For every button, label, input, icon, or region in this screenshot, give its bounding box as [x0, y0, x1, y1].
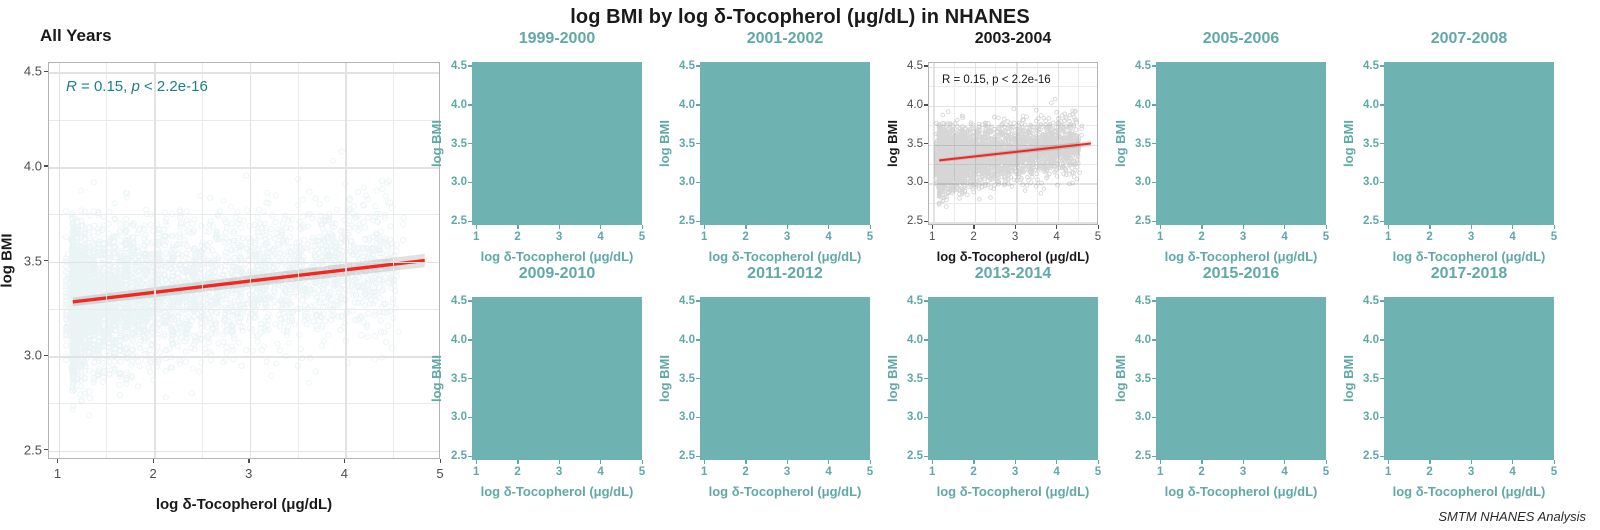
- y-tick-label: 3.5: [896, 373, 923, 385]
- y-tick-label: 3.0: [1124, 176, 1151, 188]
- x-tick-label: 1: [1385, 466, 1391, 478]
- y-tick-mark: [44, 260, 48, 261]
- y-tick-label: 4.5: [14, 64, 42, 79]
- y-tick-label: 4.0: [896, 334, 923, 346]
- y-tick-label: 4.5: [896, 60, 923, 72]
- y-tick-mark: [696, 104, 700, 105]
- x-tick-label: 4: [825, 466, 831, 478]
- y-tick-mark: [44, 165, 48, 166]
- x-tick-label: 2: [514, 466, 520, 478]
- x-tick-label: 4: [1053, 231, 1059, 243]
- y-tick-label: 2.5: [896, 450, 923, 462]
- plot-area-all-years: [48, 62, 440, 459]
- y-tick-label: 2.5: [1124, 450, 1151, 462]
- plot-area-2013-2014: [928, 297, 1098, 460]
- y-tick-mark: [696, 339, 700, 340]
- y-tick-label: 3.5: [668, 373, 695, 385]
- gridline-major-horizontal: [49, 262, 440, 264]
- y-tick-mark: [468, 104, 472, 105]
- y-tick-mark: [924, 378, 928, 379]
- y-tick-label: 2.5: [14, 442, 42, 457]
- x-tick-mark: [1471, 460, 1472, 464]
- y-tick-mark: [1380, 65, 1384, 66]
- x-tick-mark: [153, 459, 154, 463]
- x-tick-mark: [1201, 225, 1202, 229]
- x-axis-title-2001-2002: log δ-Tocopherol (μg/dL): [700, 249, 870, 264]
- x-tick-label: 5: [867, 231, 873, 243]
- y-tick-mark: [1380, 378, 1384, 379]
- x-tick-label: 3: [1012, 231, 1018, 243]
- y-tick-mark: [44, 355, 48, 356]
- x-tick-label: 5: [867, 466, 873, 478]
- y-tick-mark: [468, 300, 472, 301]
- x-tick-mark: [828, 225, 829, 229]
- y-tick-label: 2.5: [1124, 215, 1151, 227]
- panel-title-all-years: All Years: [40, 26, 112, 46]
- x-tick-label: 1: [929, 466, 935, 478]
- y-tick-label: 4.5: [1124, 295, 1151, 307]
- y-tick-label: 3.5: [1352, 138, 1379, 150]
- x-tick-label: 1: [54, 466, 61, 481]
- x-tick-mark: [932, 225, 933, 229]
- x-tick-label: 1: [929, 231, 935, 243]
- y-tick-label: 3.0: [440, 411, 467, 423]
- x-tick-mark: [1284, 225, 1285, 229]
- y-tick-mark: [924, 339, 928, 340]
- x-tick-label: 4: [1509, 466, 1515, 478]
- y-tick-mark: [1152, 378, 1156, 379]
- x-tick-mark: [1512, 225, 1513, 229]
- panel-title-2005-2006: 2005-2006: [1156, 30, 1326, 48]
- x-tick-mark: [1388, 460, 1389, 464]
- x-tick-mark: [1512, 460, 1513, 464]
- x-axis-title-2007-2008: log δ-Tocopherol (μg/dL): [1384, 249, 1554, 264]
- y-axis-title-2009-2010: log BMI: [429, 355, 444, 402]
- y-tick-mark: [1152, 143, 1156, 144]
- x-tick-label: 5: [639, 231, 645, 243]
- y-axis-title-1999-2000: log BMI: [429, 120, 444, 167]
- y-tick-mark: [1380, 417, 1384, 418]
- y-tick-label: 3.0: [896, 411, 923, 423]
- x-tick-label: 3: [556, 231, 562, 243]
- panel-2011-2012: 2011-20122.53.03.54.04.512345log δ-Tocop…: [654, 265, 880, 498]
- y-tick-mark: [1152, 182, 1156, 183]
- panel-title-2003-2004: 2003-2004: [928, 30, 1098, 48]
- corr-mid: = 0.15,: [77, 78, 132, 95]
- x-tick-label: 4: [1053, 466, 1059, 478]
- x-tick-mark: [1201, 460, 1202, 464]
- corr-R-symbol: R: [66, 78, 77, 95]
- y-tick-mark: [696, 300, 700, 301]
- x-tick-mark: [642, 460, 643, 464]
- plot-frame-2005-2006: [1156, 62, 1326, 225]
- x-tick-label: 2: [970, 231, 976, 243]
- x-tick-mark: [57, 459, 58, 463]
- x-tick-mark: [1243, 225, 1244, 229]
- x-tick-label: 4: [1281, 231, 1287, 243]
- y-tick-mark: [1380, 221, 1384, 222]
- y-tick-label: 3.0: [1124, 411, 1151, 423]
- x-tick-mark: [870, 460, 871, 464]
- y-tick-mark: [696, 456, 700, 457]
- x-tick-label: 5: [1551, 466, 1557, 478]
- panel-title-2007-2008: 2007-2008: [1384, 30, 1554, 48]
- x-axis-title-all-years: log δ-Tocopherol (μg/dL): [48, 496, 440, 513]
- y-tick-label: 4.5: [1352, 295, 1379, 307]
- x-tick-label: 1: [1157, 466, 1163, 478]
- y-tick-label: 4.0: [896, 99, 923, 111]
- y-tick-label: 3.0: [896, 176, 923, 188]
- panel-title-2009-2010: 2009-2010: [472, 265, 642, 283]
- y-axis-title-2003-2004: log BMI: [885, 120, 900, 167]
- y-tick-label: 3.5: [14, 253, 42, 268]
- x-tick-label: 1: [1385, 231, 1391, 243]
- plot-frame-2015-2016: [1156, 297, 1326, 460]
- y-tick-label: 4.0: [1124, 99, 1151, 111]
- x-tick-label: 3: [556, 466, 562, 478]
- x-tick-label: 5: [1551, 231, 1557, 243]
- y-axis-title-2011-2012: log BMI: [657, 355, 672, 402]
- y-tick-mark: [1380, 456, 1384, 457]
- y-tick-mark: [1380, 104, 1384, 105]
- y-axis-title-2015-2016: log BMI: [1113, 355, 1128, 402]
- plot-area-2005-2006: [1156, 62, 1326, 225]
- y-tick-mark: [924, 300, 928, 301]
- y-tick-label: 4.5: [1124, 60, 1151, 72]
- y-tick-label: 4.5: [668, 295, 695, 307]
- plot-frame-1999-2000: [472, 62, 642, 225]
- plot-frame-2009-2010: [472, 297, 642, 460]
- scatter-layer-all-years: [49, 63, 439, 458]
- y-tick-mark: [44, 449, 48, 450]
- x-tick-mark: [476, 460, 477, 464]
- x-tick-label: 1: [473, 231, 479, 243]
- y-tick-mark: [1152, 221, 1156, 222]
- x-tick-mark: [1429, 225, 1430, 229]
- x-tick-mark: [1284, 460, 1285, 464]
- y-tick-mark: [696, 417, 700, 418]
- y-tick-label: 3.5: [896, 138, 923, 150]
- x-tick-mark: [787, 225, 788, 229]
- x-axis-title-2005-2006: log δ-Tocopherol (μg/dL): [1156, 249, 1326, 264]
- x-tick-label: 4: [597, 466, 603, 478]
- plot-frame-2013-2014: [928, 297, 1098, 460]
- x-tick-mark: [476, 225, 477, 229]
- x-tick-label: 2: [150, 466, 157, 481]
- x-tick-mark: [1326, 460, 1327, 464]
- x-tick-label: 1: [1157, 231, 1163, 243]
- y-tick-label: 4.0: [440, 334, 467, 346]
- x-tick-mark: [517, 460, 518, 464]
- x-tick-mark: [1015, 225, 1016, 229]
- plot-frame-2011-2012: [700, 297, 870, 460]
- y-tick-mark: [1152, 339, 1156, 340]
- y-tick-label: 4.0: [1352, 334, 1379, 346]
- y-tick-label: 3.0: [1352, 411, 1379, 423]
- gridline-minor-horizontal: [49, 120, 440, 121]
- y-tick-label: 3.0: [668, 176, 695, 188]
- x-tick-label: 3: [1240, 231, 1246, 243]
- y-tick-mark: [468, 182, 472, 183]
- panel-title-2013-2014: 2013-2014: [928, 265, 1098, 283]
- footer-caption: SMTM NHANES Analysis: [1438, 509, 1586, 524]
- y-tick-label: 2.5: [440, 450, 467, 462]
- y-tick-mark: [468, 65, 472, 66]
- x-tick-mark: [1326, 225, 1327, 229]
- gridline-major-horizontal: [49, 167, 440, 169]
- y-tick-mark: [1152, 300, 1156, 301]
- x-tick-label: 2: [970, 466, 976, 478]
- gridline-major-horizontal: [49, 72, 440, 74]
- x-tick-mark: [870, 225, 871, 229]
- plot-area-2003-2004: [928, 62, 1098, 225]
- y-tick-label: 2.5: [896, 215, 923, 227]
- gridline-minor-horizontal: [49, 403, 440, 404]
- y-tick-label: 4.0: [1352, 99, 1379, 111]
- y-tick-mark: [696, 182, 700, 183]
- x-tick-label: 2: [1426, 466, 1432, 478]
- y-tick-mark: [1152, 65, 1156, 66]
- x-tick-label: 2: [1426, 231, 1432, 243]
- y-tick-mark: [924, 143, 928, 144]
- y-tick-mark: [1380, 300, 1384, 301]
- x-tick-mark: [1429, 460, 1430, 464]
- panel-2017-2018: 2017-20182.53.03.54.04.512345log δ-Tocop…: [1338, 265, 1564, 498]
- x-tick-label: 4: [1509, 231, 1515, 243]
- y-tick-label: 2.5: [668, 450, 695, 462]
- y-tick-mark: [1380, 339, 1384, 340]
- correlation-annotation-2003-2004: R = 0.15, p < 2.2e-16: [942, 74, 1051, 86]
- panel-2001-2002: 2001-20022.53.03.54.04.512345log δ-Tocop…: [654, 30, 880, 263]
- plot-area-2015-2016: [1156, 297, 1326, 460]
- x-tick-mark: [1098, 460, 1099, 464]
- plot-area-2001-2002: [700, 62, 870, 225]
- y-tick-label: 3.5: [1124, 138, 1151, 150]
- plot-frame-2017-2018: [1384, 297, 1554, 460]
- x-tick-mark: [1554, 225, 1555, 229]
- y-tick-mark: [924, 65, 928, 66]
- plot-frame-2003-2004: [928, 62, 1098, 225]
- x-tick-label: 5: [1095, 231, 1101, 243]
- panel-2005-2006: 2005-20062.53.03.54.04.512345log δ-Tocop…: [1110, 30, 1336, 263]
- y-axis-title-2017-2018: log BMI: [1341, 355, 1356, 402]
- panel-title-2001-2002: 2001-2002: [700, 30, 870, 48]
- scatter-layer-2003-2004: [929, 63, 1097, 224]
- panel-2009-2010: 2009-20102.53.03.54.04.512345log δ-Tocop…: [426, 265, 652, 498]
- plot-frame-2007-2008: [1384, 62, 1554, 225]
- x-tick-mark: [1056, 225, 1057, 229]
- x-tick-mark: [704, 225, 705, 229]
- y-tick-mark: [1152, 104, 1156, 105]
- panel-title-2015-2016: 2015-2016: [1156, 265, 1326, 283]
- plot-area-1999-2000: [472, 62, 642, 225]
- x-tick-label: 4: [341, 466, 348, 481]
- x-tick-mark: [1160, 225, 1161, 229]
- x-axis-title-2009-2010: log δ-Tocopherol (μg/dL): [472, 484, 642, 499]
- panel-all-years: All Years R = 0.15, p < 2.2e-16 log δ-To…: [0, 26, 452, 526]
- gridline-minor-horizontal: [49, 214, 440, 215]
- y-tick-mark: [468, 456, 472, 457]
- gridline-minor-horizontal: [49, 309, 440, 310]
- y-tick-mark: [468, 417, 472, 418]
- y-tick-label: 3.5: [1352, 373, 1379, 385]
- y-tick-mark: [1380, 182, 1384, 183]
- y-tick-mark: [696, 143, 700, 144]
- x-axis-title-2015-2016: log δ-Tocopherol (μg/dL): [1156, 484, 1326, 499]
- x-tick-mark: [787, 460, 788, 464]
- x-tick-mark: [1554, 460, 1555, 464]
- x-tick-label: 3: [784, 466, 790, 478]
- x-tick-mark: [745, 225, 746, 229]
- y-tick-mark: [468, 221, 472, 222]
- x-tick-mark: [559, 225, 560, 229]
- y-tick-label: 3.5: [668, 138, 695, 150]
- x-tick-mark: [745, 460, 746, 464]
- x-tick-label: 1: [701, 466, 707, 478]
- x-tick-label: 3: [784, 231, 790, 243]
- y-tick-mark: [696, 221, 700, 222]
- plot-frame-2001-2002: [700, 62, 870, 225]
- x-tick-mark: [1160, 460, 1161, 464]
- x-tick-mark: [932, 460, 933, 464]
- x-tick-label: 5: [1323, 231, 1329, 243]
- x-tick-label: 2: [514, 231, 520, 243]
- y-tick-mark: [468, 378, 472, 379]
- y-tick-mark: [44, 71, 48, 72]
- y-tick-mark: [924, 221, 928, 222]
- y-axis-title-2007-2008: log BMI: [1341, 120, 1356, 167]
- y-axis-title-2013-2014: log BMI: [885, 355, 900, 402]
- y-tick-mark: [1152, 456, 1156, 457]
- y-tick-label: 4.5: [1352, 60, 1379, 72]
- corr-tail: < 2.2e-16: [140, 78, 208, 95]
- x-tick-mark: [973, 460, 974, 464]
- x-tick-mark: [600, 225, 601, 229]
- x-tick-mark: [1015, 460, 1016, 464]
- x-tick-mark: [344, 459, 345, 463]
- y-tick-label: 3.0: [440, 176, 467, 188]
- y-tick-label: 4.5: [440, 295, 467, 307]
- x-tick-label: 3: [1468, 466, 1474, 478]
- x-tick-label: 5: [1323, 466, 1329, 478]
- panel-2003-2004: 2003-2004R = 0.15, p < 2.2e-162.53.03.54…: [882, 30, 1108, 263]
- x-axis-title-2013-2014: log δ-Tocopherol (μg/dL): [928, 484, 1098, 499]
- x-axis-title-2003-2004: log δ-Tocopherol (μg/dL): [928, 249, 1098, 264]
- y-tick-label: 4.0: [1124, 334, 1151, 346]
- panel-2007-2008: 2007-20082.53.03.54.04.512345log δ-Tocop…: [1338, 30, 1564, 263]
- y-tick-label: 3.5: [1124, 373, 1151, 385]
- y-tick-label: 2.5: [1352, 450, 1379, 462]
- corr-p-symbol: p: [131, 78, 139, 95]
- y-tick-label: 2.5: [668, 215, 695, 227]
- panel-title-1999-2000: 1999-2000: [472, 30, 642, 48]
- x-tick-mark: [559, 460, 560, 464]
- y-tick-label: 2.5: [440, 215, 467, 227]
- y-tick-label: 3.0: [1352, 176, 1379, 188]
- x-tick-mark: [248, 459, 249, 463]
- y-tick-mark: [924, 182, 928, 183]
- gridline-major-horizontal: [49, 451, 440, 453]
- x-tick-mark: [642, 225, 643, 229]
- x-tick-mark: [704, 460, 705, 464]
- y-tick-label: 3.5: [440, 138, 467, 150]
- correlation-annotation-all-years: R = 0.15, p < 2.2e-16: [66, 78, 208, 95]
- x-tick-label: 2: [742, 466, 748, 478]
- x-tick-mark: [1471, 225, 1472, 229]
- y-axis-title-2001-2002: log BMI: [657, 120, 672, 167]
- y-tick-mark: [924, 104, 928, 105]
- x-tick-label: 3: [245, 466, 252, 481]
- y-tick-label: 4.0: [668, 99, 695, 111]
- y-tick-mark: [924, 417, 928, 418]
- panel-title-2011-2012: 2011-2012: [700, 265, 870, 283]
- y-tick-mark: [468, 339, 472, 340]
- x-tick-label: 3: [1468, 231, 1474, 243]
- x-tick-label: 2: [742, 231, 748, 243]
- panel-title-2017-2018: 2017-2018: [1384, 265, 1554, 283]
- y-tick-label: 4.5: [440, 60, 467, 72]
- x-tick-label: 1: [473, 466, 479, 478]
- gridline-major-horizontal: [49, 356, 440, 358]
- y-tick-label: 3.0: [668, 411, 695, 423]
- y-tick-mark: [468, 143, 472, 144]
- x-tick-mark: [1056, 460, 1057, 464]
- x-tick-label: 4: [597, 231, 603, 243]
- plot-area-2017-2018: [1384, 297, 1554, 460]
- x-tick-mark: [973, 225, 974, 229]
- x-tick-mark: [600, 460, 601, 464]
- x-tick-label: 4: [1281, 466, 1287, 478]
- y-tick-mark: [1380, 143, 1384, 144]
- x-axis-title-1999-2000: log δ-Tocopherol (μg/dL): [472, 249, 642, 264]
- y-tick-mark: [696, 65, 700, 66]
- y-tick-label: 3.0: [14, 348, 42, 363]
- x-tick-mark: [1388, 225, 1389, 229]
- figure-root: log BMI by log δ-Tocopherol (μg/dL) in N…: [0, 0, 1600, 530]
- y-tick-mark: [924, 456, 928, 457]
- plot-frame-all-years: [48, 62, 440, 459]
- x-tick-label: 1: [701, 231, 707, 243]
- x-tick-label: 5: [1095, 466, 1101, 478]
- x-tick-label: 5: [639, 466, 645, 478]
- x-axis-title-2011-2012: log δ-Tocopherol (μg/dL): [700, 484, 870, 499]
- x-tick-label: 3: [1240, 466, 1246, 478]
- x-tick-label: 4: [825, 231, 831, 243]
- x-tick-label: 3: [1012, 466, 1018, 478]
- panel-2013-2014: 2013-20142.53.03.54.04.512345log δ-Tocop…: [882, 265, 1108, 498]
- y-tick-label: 3.5: [440, 373, 467, 385]
- y-axis-title-2005-2006: log BMI: [1113, 120, 1128, 167]
- y-tick-label: 4.0: [14, 158, 42, 173]
- y-tick-label: 4.5: [896, 295, 923, 307]
- plot-area-2011-2012: [700, 297, 870, 460]
- y-tick-label: 2.5: [1352, 215, 1379, 227]
- y-tick-label: 4.5: [668, 60, 695, 72]
- x-tick-mark: [1098, 225, 1099, 229]
- y-tick-label: 4.0: [440, 99, 467, 111]
- y-tick-mark: [1152, 417, 1156, 418]
- y-tick-label: 4.0: [668, 334, 695, 346]
- plot-area-2009-2010: [472, 297, 642, 460]
- panel-1999-2000: 1999-20002.53.03.54.04.512345log δ-Tocop…: [426, 30, 652, 263]
- x-tick-mark: [517, 225, 518, 229]
- x-tick-mark: [1243, 460, 1244, 464]
- plot-area-2007-2008: [1384, 62, 1554, 225]
- panel-2015-2016: 2015-20162.53.03.54.04.512345log δ-Tocop…: [1110, 265, 1336, 498]
- x-tick-label: 2: [1198, 231, 1204, 243]
- y-tick-mark: [696, 378, 700, 379]
- x-tick-mark: [828, 460, 829, 464]
